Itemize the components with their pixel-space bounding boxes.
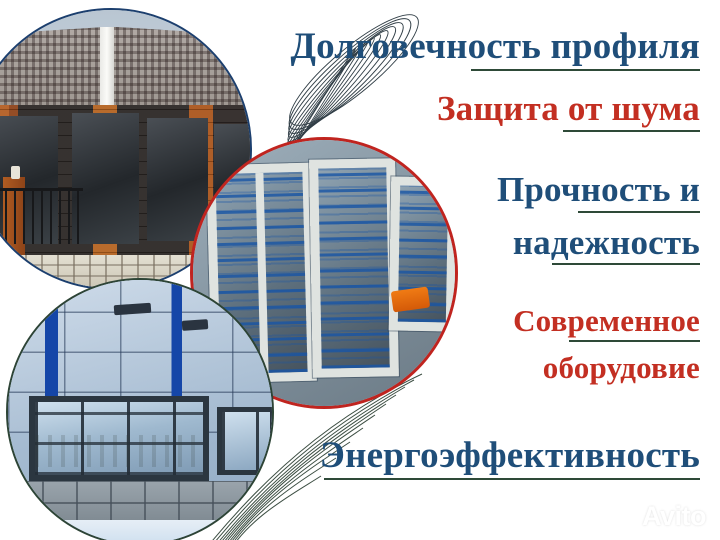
claim-underline: [324, 478, 700, 480]
house-roof-ridge: [100, 27, 114, 110]
claim-line: Защита от шума: [437, 91, 700, 127]
claim-underline: [552, 263, 700, 265]
claim-durability: Долговечность профиля: [290, 28, 700, 71]
house-balcony-railing: [0, 188, 83, 244]
claim-line: Энергоэффективность: [320, 437, 700, 475]
advert-banner: Долговечность профиля Защита от шума Про…: [0, 0, 720, 540]
claim-underline: [563, 130, 700, 132]
claim-line: надежность: [497, 225, 700, 261]
claim-energy-efficiency: Энергоэффективность: [320, 437, 700, 480]
house-roof: [0, 27, 252, 110]
claim-noise-protection: Защита от шума: [437, 91, 700, 132]
facade-vent: [182, 319, 209, 331]
avito-watermark: Avito: [611, 501, 706, 532]
facade-glazing: [29, 396, 209, 480]
claim-line: Современное: [513, 305, 700, 337]
house-lamp: [11, 166, 20, 179]
claim-line: Долговечность профиля: [290, 28, 700, 66]
claim-modern-equipment: Современное оборудовие: [513, 305, 700, 383]
avito-wordmark: Avito: [642, 501, 706, 532]
avito-dots-icon: [611, 504, 637, 530]
glass-reflection-trees: [35, 435, 203, 468]
claim-underline: [471, 69, 700, 71]
claim-line: оборудовие: [513, 352, 700, 384]
claim-line: Прочность и: [497, 172, 700, 208]
claims-list: Долговечность профиля Защита от шума Про…: [220, 0, 700, 540]
claim-strength-reliability: Прочность и надежность: [497, 172, 700, 265]
